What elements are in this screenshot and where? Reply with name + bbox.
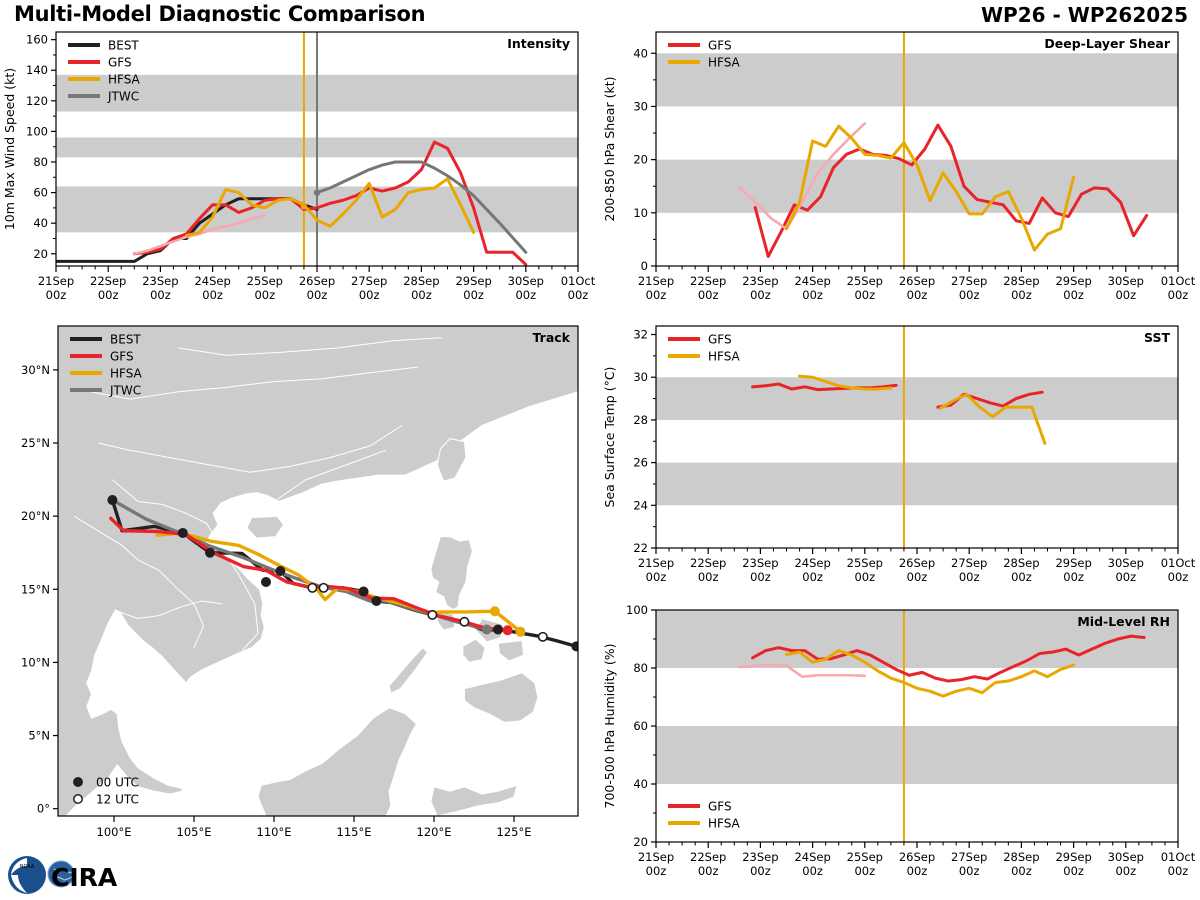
lat-tick-label: 20°N [21,509,50,523]
y-tick-label: 22 [633,541,648,555]
x-tick-sublabel: 00z [646,570,667,584]
track-marker-best-open [428,611,436,619]
x-tick-label: 25Sep [247,274,283,288]
x-tick-label: 28Sep [1003,556,1039,570]
track-marker-best-filled [206,549,214,557]
track-marker-best-open [539,633,547,641]
x-tick-sublabel: 00z [307,288,328,302]
track-marker-hfsa-filled [491,607,499,615]
lon-tick-label: 125°E [497,825,532,839]
marker-legend-icon-filled [74,778,82,786]
x-tick-label: 29Sep [455,274,491,288]
x-tick-sublabel: 00z [959,864,980,878]
panel-label: Intensity [507,36,570,51]
chart-rh: 2040608010021Sep00z22Sep00z23Sep00z24Sep… [600,600,1200,900]
x-tick-sublabel: 00z [359,288,380,302]
x-tick-sublabel: 00z [959,570,980,584]
x-tick-label: 25Sep [847,850,883,864]
y-axis-title: 200-850 hPa Shear (kt) [602,77,617,222]
x-tick-sublabel: 00z [1063,864,1084,878]
x-tick-label: 01Oct [1161,556,1196,570]
track-marker-best-filled [276,567,284,575]
x-tick-label: 27Sep [951,556,987,570]
x-tick-label: 23Sep [142,274,178,288]
x-tick-sublabel: 00z [98,288,119,302]
lon-tick-label: 110°E [257,825,292,839]
x-tick-label: 25Sep [847,274,883,288]
lon-tick-label: 120°E [417,825,452,839]
x-tick-label: 21Sep [638,850,674,864]
chart-intensity: 2040608010012014016021Sep00z22Sep00z23Se… [0,22,600,318]
x-tick-sublabel: 00z [1115,288,1136,302]
cira-noaa-logo: NOAA CIRA [6,853,156,898]
x-tick-sublabel: 00z [1168,288,1189,302]
y-tick-label: 20 [33,247,48,261]
marker-legend-icon-open [74,795,82,803]
y-tick-label: 140 [26,63,48,77]
panel-intensity: 2040608010012014016021Sep00z22Sep00z23Se… [0,22,600,318]
y-tick-label: 40 [633,777,648,791]
x-tick-label: 01Oct [1161,850,1196,864]
panel-label: Mid-Level RH [1077,614,1170,629]
y-axis-title: 10m Max Wind Speed (kt) [2,68,17,230]
lat-tick-label: 25°N [21,436,50,450]
lat-tick-label: 0° [37,802,50,816]
x-tick-label: 24Sep [794,850,830,864]
x-tick-sublabel: 00z [698,570,719,584]
x-tick-sublabel: 00z [46,288,67,302]
y-tick-label: 28 [633,413,648,427]
x-tick-label: 28Sep [1003,274,1039,288]
legend-label-gfs: GFS [108,56,132,70]
panel-label: SST [1144,330,1170,345]
map-legend-label-hfsa: HFSA [110,367,143,381]
x-tick-sublabel: 00z [1063,288,1084,302]
legend-label-jtwc: JTWC [107,90,139,104]
cira-text: CIRA [51,863,118,892]
x-tick-label: 25Sep [847,556,883,570]
chart-sst: 22242628303221Sep00z22Sep00z23Sep00z24Se… [600,318,1200,600]
lon-tick-label: 115°E [337,825,372,839]
y-tick-label: 26 [633,456,648,470]
legend-label-gfs: GFS [708,333,732,347]
marker-legend-label: 00 UTC [96,776,139,790]
legend-label-gfs: GFS [708,39,732,53]
x-tick-label: 27Sep [951,850,987,864]
x-tick-label: 29Sep [1055,556,1091,570]
x-tick-sublabel: 00z [463,288,484,302]
map-legend-label-gfs: GFS [110,350,134,364]
y-axis-title: 700-500 hPa Humidity (%) [602,643,617,808]
y-tick-label: 40 [633,46,648,60]
map-legend-label-jtwc: JTWC [109,384,141,398]
x-tick-label: 22Sep [690,274,726,288]
x-tick-sublabel: 00z [1115,570,1136,584]
track-marker-gfs-filled [503,626,511,634]
x-tick-label: 01Oct [561,274,596,288]
shaded-band-1 [656,377,1178,420]
track-marker-hfsa-filled [516,628,524,636]
x-tick-label: 21Sep [638,274,674,288]
x-tick-label: 21Sep [638,556,674,570]
x-tick-sublabel: 00z [802,288,823,302]
track-marker-best-filled [572,642,580,650]
x-tick-sublabel: 00z [959,288,980,302]
y-tick-label: 60 [33,186,48,200]
track-marker-best-filled [108,496,116,504]
track-marker-best-filled [494,625,502,633]
x-tick-sublabel: 00z [907,288,928,302]
svg-text:NOAA: NOAA [20,864,35,870]
y-tick-label: 60 [633,719,648,733]
lat-tick-label: 5°N [28,729,50,743]
y-tick-label: 24 [633,498,648,512]
lat-tick-label: 30°N [21,363,50,377]
x-tick-sublabel: 00z [854,864,875,878]
legend-label-hfsa: HFSA [708,350,741,364]
lon-tick-label: 100°E [97,825,132,839]
x-tick-label: 24Sep [794,556,830,570]
shaded-band-0 [656,726,1178,784]
x-tick-label: 28Sep [403,274,439,288]
y-tick-label: 40 [33,216,48,230]
track-marker-best-filled [262,578,270,586]
y-tick-label: 32 [633,328,648,342]
x-tick-label: 01Oct [1161,274,1196,288]
y-tick-label: 30 [633,99,648,113]
x-tick-label: 29Sep [1055,274,1091,288]
x-tick-sublabel: 00z [1063,570,1084,584]
x-tick-label: 29Sep [1055,850,1091,864]
hfsa-init-marker [301,203,307,209]
x-tick-sublabel: 00z [854,570,875,584]
x-tick-label: 24Sep [794,274,830,288]
legend-label-hfsa: HFSA [108,73,141,87]
x-tick-sublabel: 00z [854,288,875,302]
noaa-seagull-icon: NOAA [8,856,46,894]
panel-sst: 22242628303221Sep00z22Sep00z23Sep00z24Se… [600,318,1200,600]
x-tick-sublabel: 00z [750,288,771,302]
y-tick-label: 120 [26,94,48,108]
chart-shear: 01020304021Sep00z22Sep00z23Sep00z24Sep00… [600,22,1200,318]
track-marker-best-filled [359,587,367,595]
lat-tick-label: 15°N [21,582,50,596]
x-tick-sublabel: 00z [750,864,771,878]
lon-tick-label: 105°E [177,825,212,839]
x-tick-sublabel: 00z [646,864,667,878]
y-tick-label: 20 [633,153,648,167]
x-tick-sublabel: 00z [1168,570,1189,584]
x-tick-sublabel: 00z [1011,288,1032,302]
x-tick-sublabel: 00z [750,570,771,584]
y-tick-label: 100 [26,124,48,138]
x-tick-sublabel: 00z [698,288,719,302]
y-axis-title: Sea Surface Temp (°C) [602,367,617,508]
legend-label-best: BEST [108,39,139,53]
x-tick-sublabel: 00z [802,864,823,878]
x-tick-label: 28Sep [1003,850,1039,864]
x-tick-sublabel: 00z [254,288,275,302]
x-tick-label: 26Sep [899,850,935,864]
track-marker-best-filled [372,597,380,605]
y-tick-label: 80 [633,661,648,675]
x-tick-label: 26Sep [899,556,935,570]
x-tick-label: 30Sep [1108,850,1144,864]
x-tick-sublabel: 00z [1011,864,1032,878]
y-tick-label: 0 [641,259,648,273]
y-tick-label: 160 [26,33,48,47]
y-tick-label: 20 [633,835,648,849]
legend-label-gfs: GFS [708,800,732,814]
x-tick-label: 22Sep [690,850,726,864]
legend-label-hfsa: HFSA [708,817,741,831]
panel-label: Deep-Layer Shear [1044,36,1170,51]
x-tick-label: 30Sep [1108,274,1144,288]
map-legend-label-best: BEST [110,333,141,347]
x-tick-label: 30Sep [508,274,544,288]
panel-label: Track [533,330,571,345]
track-marker-best-filled [179,529,187,537]
x-tick-label: 23Sep [742,556,778,570]
jtwc-init-marker [314,189,320,195]
x-tick-label: 24Sep [194,274,230,288]
panel-mid-level-rh: 2040608010021Sep00z22Sep00z23Sep00z24Sep… [600,600,1200,900]
x-tick-label: 27Sep [351,274,387,288]
panel-deep-layer-shear: 01020304021Sep00z22Sep00z23Sep00z24Sep00… [600,22,1200,318]
x-tick-label: 22Sep [690,556,726,570]
x-tick-sublabel: 00z [150,288,171,302]
track-map: 100°E105°E110°E115°E120°E125°E0°5°N10°N1… [0,318,600,858]
legend-label-hfsa: HFSA [708,56,741,70]
x-tick-sublabel: 00z [907,864,928,878]
x-tick-sublabel: 00z [202,288,223,302]
panel-track-map: 100°E105°E110°E115°E120°E125°E0°5°N10°N1… [0,318,600,858]
y-tick-label: 80 [33,155,48,169]
y-tick-label: 100 [626,603,648,617]
x-tick-sublabel: 00z [515,288,536,302]
x-tick-label: 26Sep [899,274,935,288]
x-tick-label: 23Sep [742,274,778,288]
y-tick-label: 10 [633,206,648,220]
track-marker-best-open [308,584,316,592]
x-tick-sublabel: 00z [646,288,667,302]
x-tick-sublabel: 00z [1011,570,1032,584]
x-tick-sublabel: 00z [1168,864,1189,878]
track-marker-best-open [319,584,327,592]
x-tick-label: 21Sep [38,274,74,288]
x-tick-label: 26Sep [299,274,335,288]
x-tick-sublabel: 00z [411,288,432,302]
shaded-band-0 [656,463,1178,506]
x-tick-sublabel: 00z [698,864,719,878]
x-tick-label: 23Sep [742,850,778,864]
x-tick-sublabel: 00z [802,570,823,584]
track-marker-jtwc-filled [483,625,491,633]
x-tick-label: 27Sep [951,274,987,288]
x-tick-label: 30Sep [1108,556,1144,570]
x-tick-sublabel: 00z [1115,864,1136,878]
cira-wordmark: CIRA [48,861,118,892]
y-tick-label: 30 [633,370,648,384]
x-tick-label: 22Sep [90,274,126,288]
marker-legend-label: 12 UTC [96,793,139,807]
x-tick-sublabel: 00z [907,570,928,584]
track-marker-best-open [460,618,468,626]
x-tick-sublabel: 00z [568,288,589,302]
lat-tick-label: 10°N [21,655,50,669]
